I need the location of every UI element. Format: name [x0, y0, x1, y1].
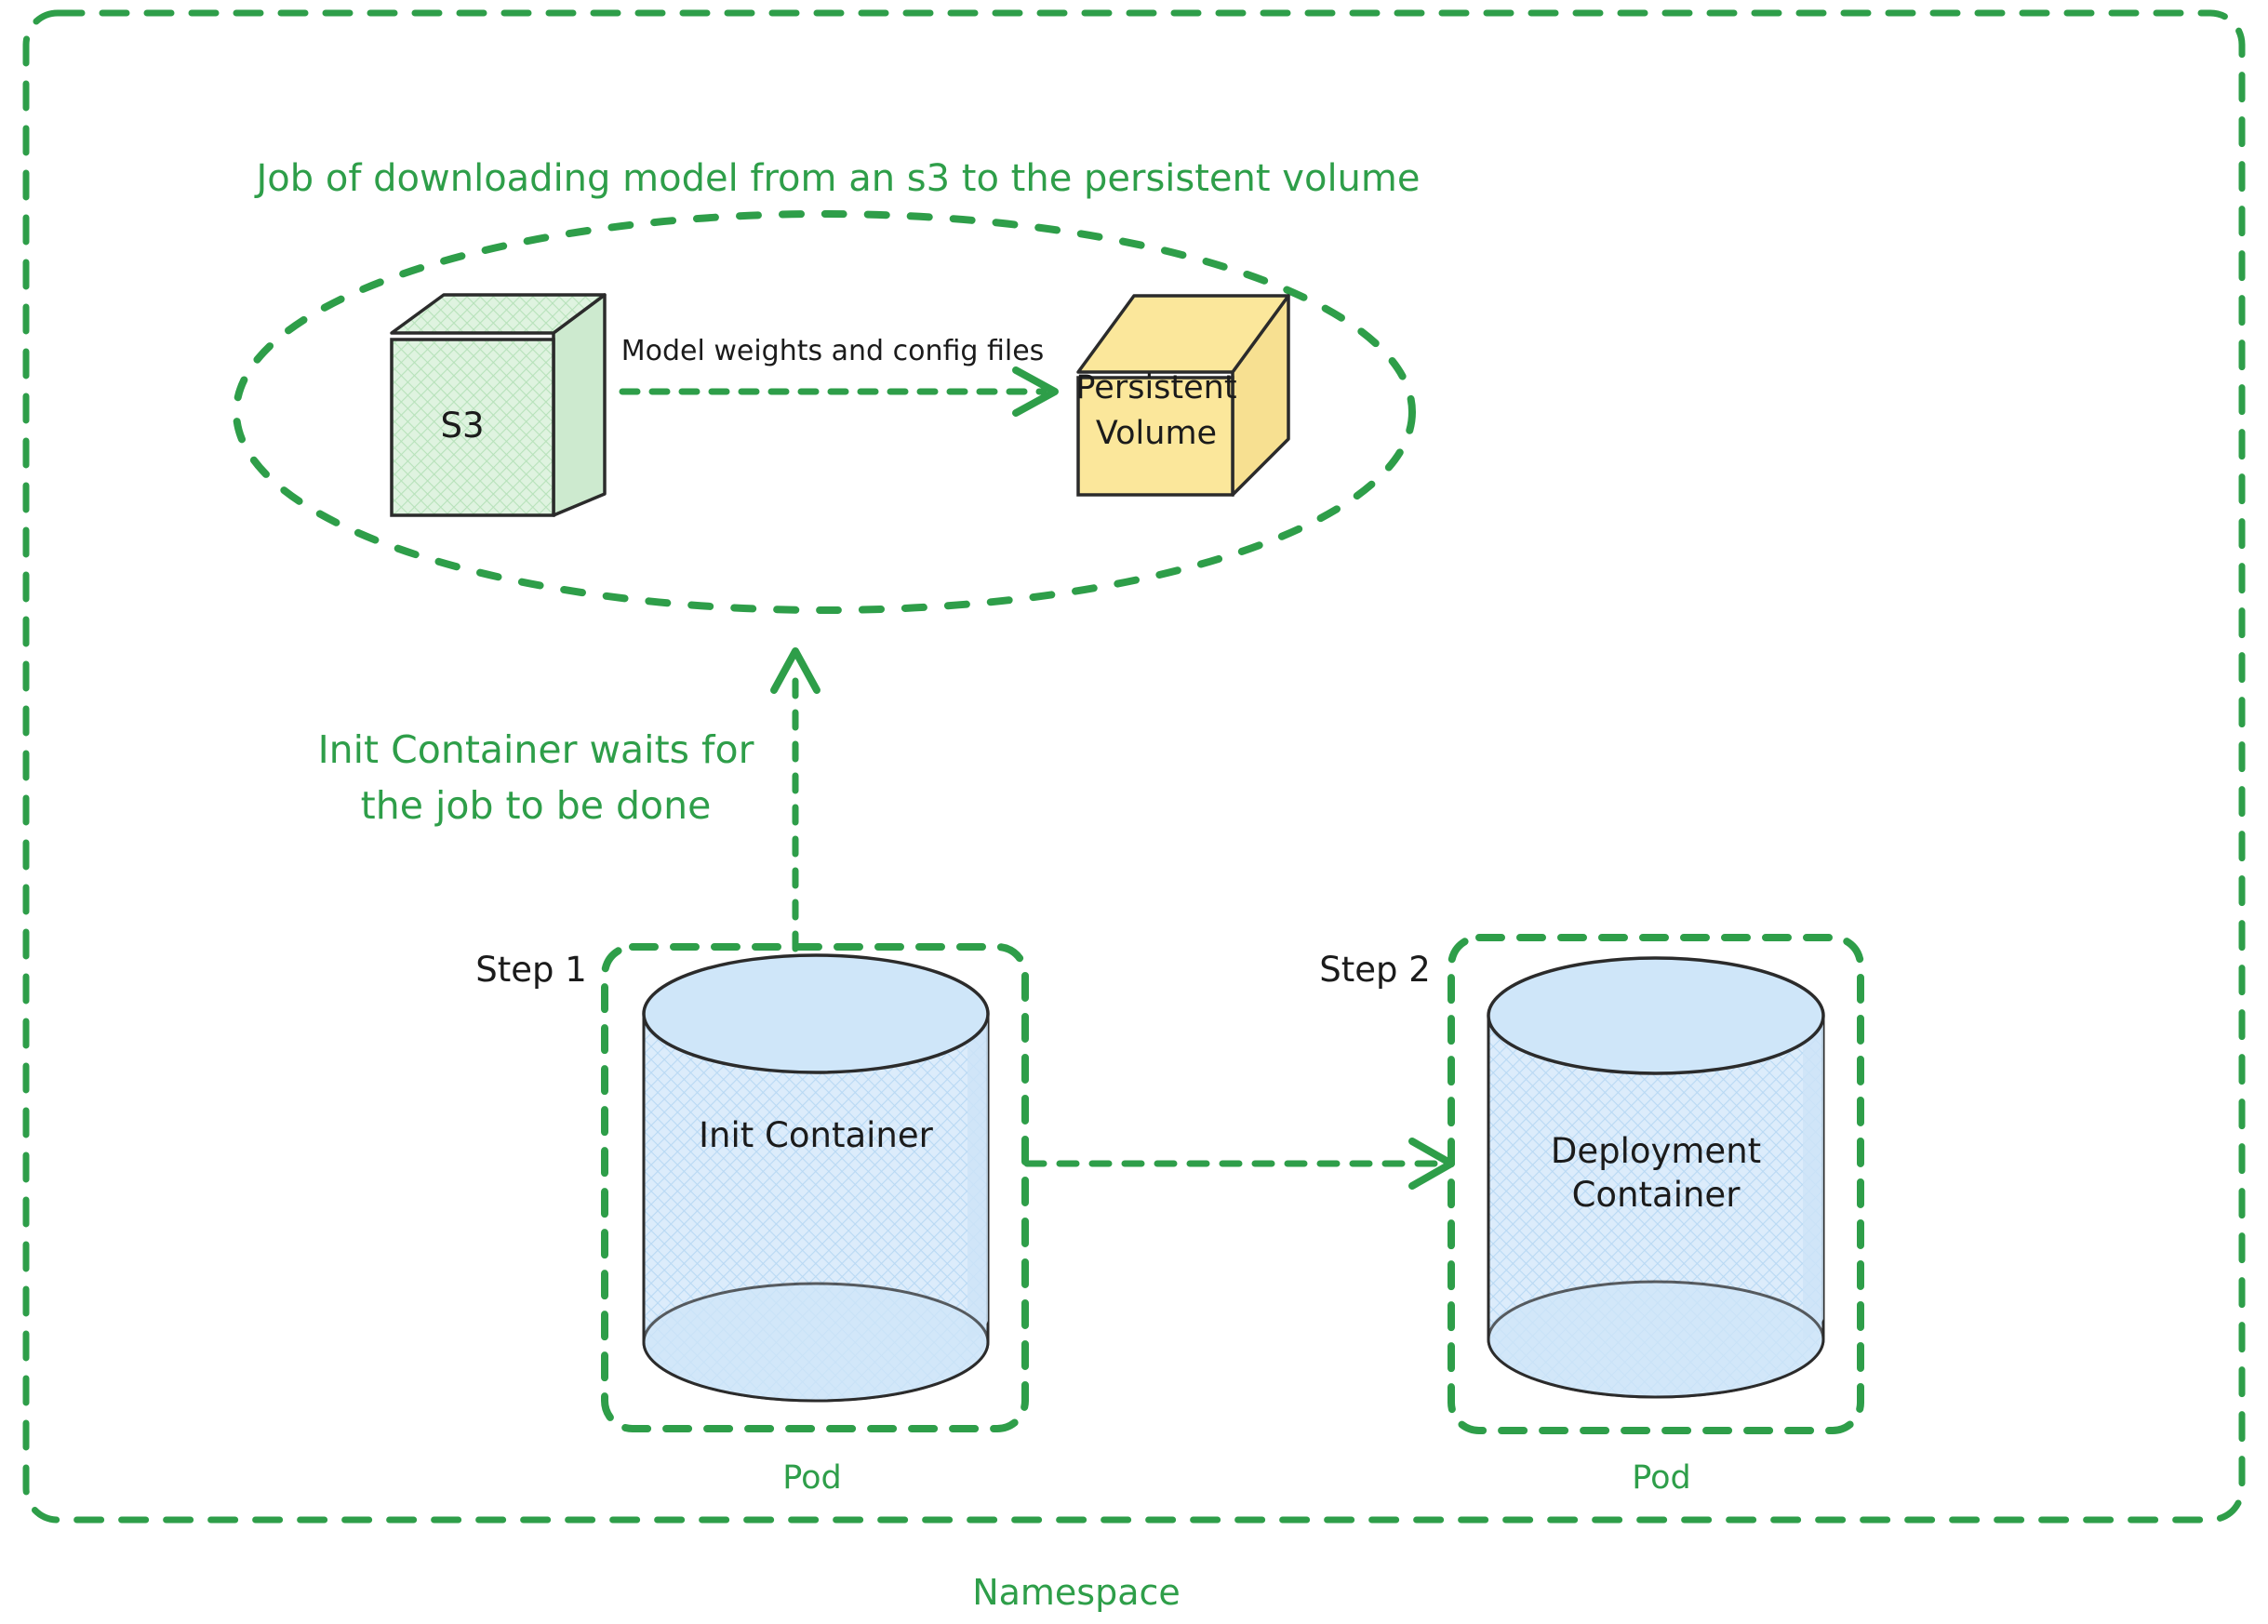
deployment-container-label-line1: Deployment	[1551, 1131, 1761, 1171]
diagram-canvas: Job of downloading model from an s3 to t…	[0, 0, 2268, 1624]
pod-2-label: Pod	[1632, 1459, 1691, 1497]
architecture-diagram: Job of downloading model from an s3 to t…	[0, 0, 2268, 1624]
persistent-volume-label-line1: Persistent	[1075, 369, 1236, 406]
step-1-label: Step 1	[475, 950, 587, 990]
deployment-container-cylinder: Deployment Container	[1488, 958, 1823, 1397]
persistent-volume-label-line2: Volume	[1096, 415, 1217, 452]
persistent-volume-cube: Persistent Volume	[1075, 296, 1288, 495]
pod-1-label: Pod	[782, 1459, 842, 1497]
job-group-caption: Job of downloading model from an s3 to t…	[254, 157, 1421, 200]
step-2-label: Step 2	[1319, 950, 1431, 990]
s3-label: S3	[440, 406, 484, 446]
wait-note-line2: the job to be done	[361, 783, 712, 828]
init-container-label: Init Container	[699, 1115, 934, 1155]
wait-note-line1: Init Container waits for	[318, 727, 754, 772]
s3-cube: S3	[392, 295, 605, 515]
init-container-cylinder: Init Container	[644, 955, 988, 1401]
namespace-label: Namespace	[972, 1572, 1181, 1613]
deployment-container-label-line2: Container	[1572, 1175, 1741, 1215]
model-transfer-label: Model weights and config files	[621, 335, 1045, 367]
